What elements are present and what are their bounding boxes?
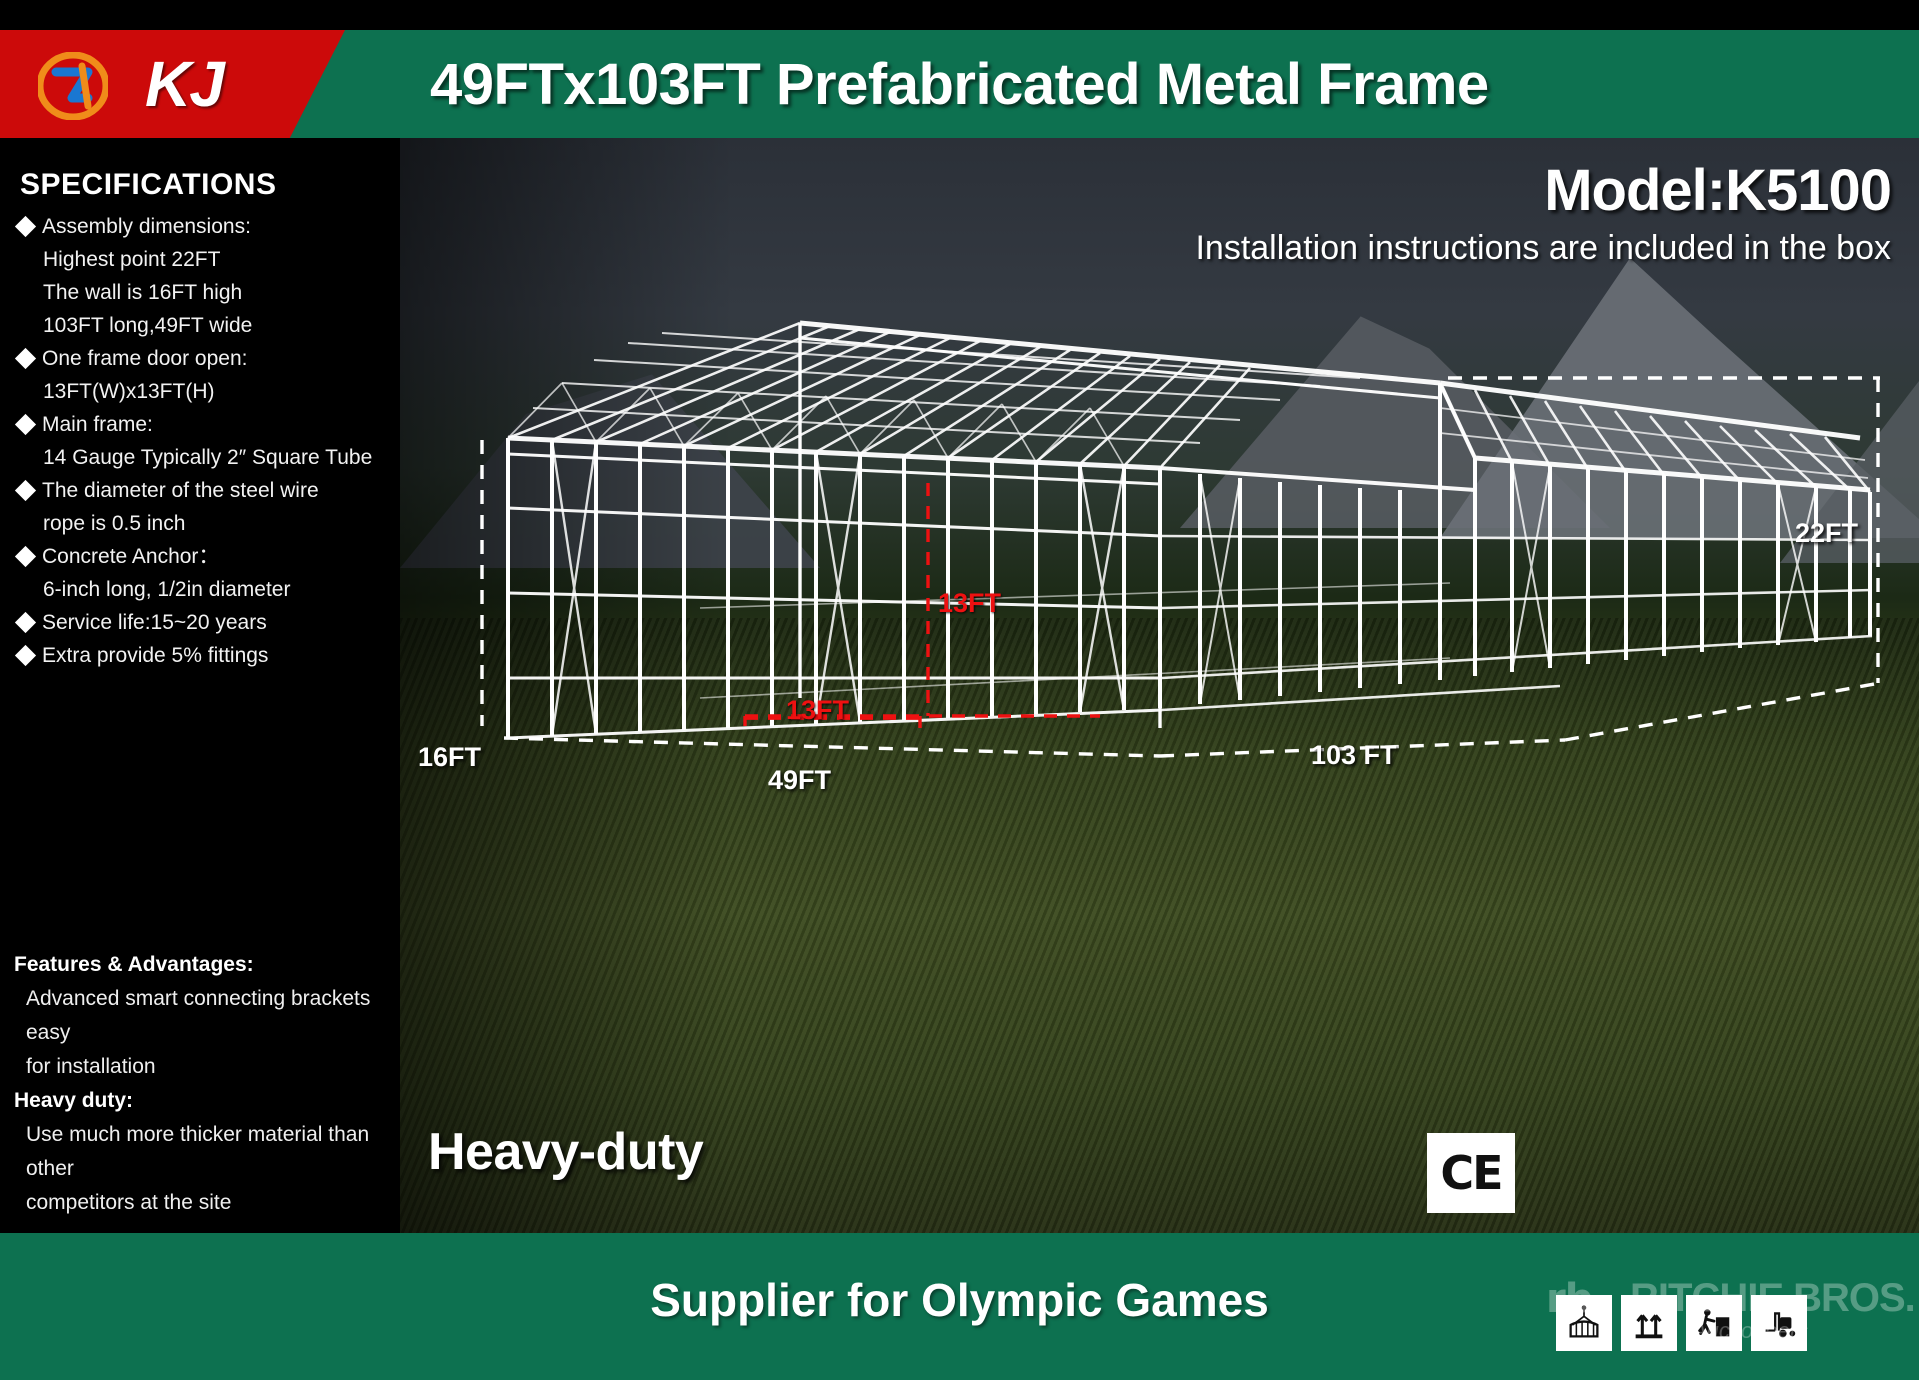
dimension-width: 49FT xyxy=(768,765,831,796)
features-advantages-block: Features & Advantages: Advanced smart co… xyxy=(14,948,400,1220)
spec-item: Highest point 22FT xyxy=(18,243,396,276)
spec-item: Extra provide 5% fittings xyxy=(18,639,396,672)
dimension-wall-height: 16FT xyxy=(418,742,481,773)
spec-item: The diameter of the steel wire xyxy=(18,474,396,507)
crate-sling-icon xyxy=(1556,1295,1612,1351)
product-advertisement-poster: KJ 49FTx103FT Prefabricated Metal Frame xyxy=(0,0,1919,1380)
dimension-length: 103 FT xyxy=(1311,740,1397,771)
diamond-bullet-icon xyxy=(15,480,36,501)
spec-item: 13FT(W)x13FT(H) xyxy=(18,375,396,408)
dimension-door-width: 13FT xyxy=(786,695,849,726)
installation-note: Installation instructions are included i… xyxy=(1195,228,1891,268)
specifications-panel: SPECIFICATIONS Assembly dimensions: High… xyxy=(0,138,400,1233)
dimension-peak-height: 22FT xyxy=(1795,518,1858,549)
kj-circular-logo-icon xyxy=(38,52,108,120)
diamond-bullet-icon xyxy=(15,612,36,633)
features-heading: Features & Advantages: xyxy=(14,948,400,982)
spec-item: 14 Gauge Typically 2″ Square Tube xyxy=(18,441,396,474)
spec-item-label: Highest point 22FT xyxy=(43,243,220,276)
heavy-duty-callout: Heavy-duty xyxy=(428,1122,703,1182)
spec-item: rope is 0.5 inch xyxy=(18,507,396,540)
spec-item: 6-inch long, 1/2in diameter xyxy=(18,573,396,606)
brand-name: KJ xyxy=(145,50,223,118)
spec-item-label: Concrete Anchor： xyxy=(42,540,219,573)
diamond-bullet-icon xyxy=(15,348,36,369)
ce-mark-badge: CE xyxy=(1427,1133,1515,1213)
spec-item: The wall is 16FT high xyxy=(18,276,396,309)
specifications-heading: SPECIFICATIONS xyxy=(20,168,276,202)
spec-item: One frame door open: xyxy=(18,342,396,375)
spec-item-label: Service life:15~20 years xyxy=(42,606,267,639)
top-black-strip xyxy=(0,0,1919,30)
spec-item-label: 103FT long,49FT wide xyxy=(43,309,252,342)
forklift-icon xyxy=(1751,1295,1807,1351)
page-title: 49FTx103FT Prefabricated Metal Frame xyxy=(430,52,1870,122)
spec-item-label: Extra provide 5% fittings xyxy=(42,639,268,672)
spec-item: 103FT long,49FT wide xyxy=(18,309,396,342)
diamond-bullet-icon xyxy=(15,216,36,237)
features-line-2: for installation xyxy=(14,1050,400,1084)
spec-item: Main frame: xyxy=(18,408,396,441)
spec-item-label: Main frame: xyxy=(42,408,153,441)
diamond-bullet-icon xyxy=(15,546,36,567)
spec-item-label: 13FT(W)x13FT(H) xyxy=(43,375,215,408)
spec-item-label: One frame door open: xyxy=(42,342,247,375)
spec-item-label: 6-inch long, 1/2in diameter xyxy=(43,573,290,606)
specifications-list: Assembly dimensions: Highest point 22FT … xyxy=(18,210,396,672)
features-line-3: Use much more thicker material than othe… xyxy=(14,1118,400,1186)
spec-item: Service life:15~20 years xyxy=(18,606,396,639)
features-line-4: competitors at the site xyxy=(14,1186,400,1220)
features-subheading: Heavy duty: xyxy=(14,1084,400,1118)
spec-item-label: The diameter of the steel wire xyxy=(42,474,319,507)
ce-mark-label: CE xyxy=(1440,1146,1501,1200)
spec-item-label: 14 Gauge Typically 2″ Square Tube xyxy=(43,441,372,474)
metal-frame-structure-diagram xyxy=(400,138,1919,1233)
do-not-climb-icon xyxy=(1686,1295,1742,1351)
diamond-bullet-icon xyxy=(15,645,36,666)
handling-icons-row xyxy=(1556,1295,1807,1351)
this-side-up-icon xyxy=(1621,1295,1677,1351)
model-label: Model:K5100 xyxy=(1544,160,1891,222)
spec-item: Assembly dimensions: xyxy=(18,210,396,243)
spec-item: Concrete Anchor： xyxy=(18,540,396,573)
features-line-1: Advanced smart connecting brackets easy xyxy=(14,982,400,1050)
dimension-door-height: 13FT xyxy=(938,588,1001,619)
spec-item-label: Assembly dimensions: xyxy=(42,210,251,243)
spec-item-label: rope is 0.5 inch xyxy=(43,507,185,540)
spec-item-label: The wall is 16FT high xyxy=(43,276,242,309)
diamond-bullet-icon xyxy=(15,414,36,435)
